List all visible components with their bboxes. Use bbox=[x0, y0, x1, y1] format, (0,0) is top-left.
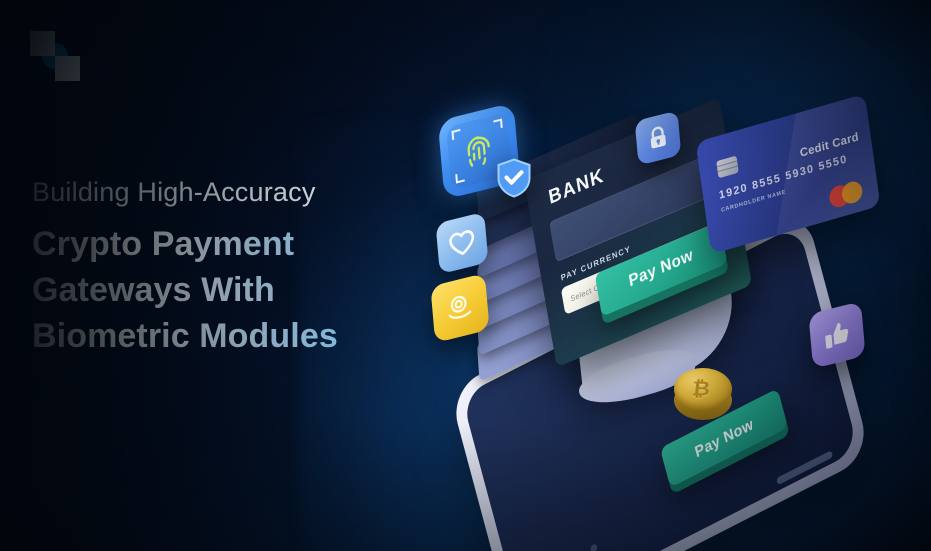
hero-banner: Building High-Accuracy Crypto Payment Ga… bbox=[0, 0, 931, 551]
background-vignette bbox=[0, 0, 931, 551]
verified-shield-icon[interactable] bbox=[496, 158, 532, 198]
